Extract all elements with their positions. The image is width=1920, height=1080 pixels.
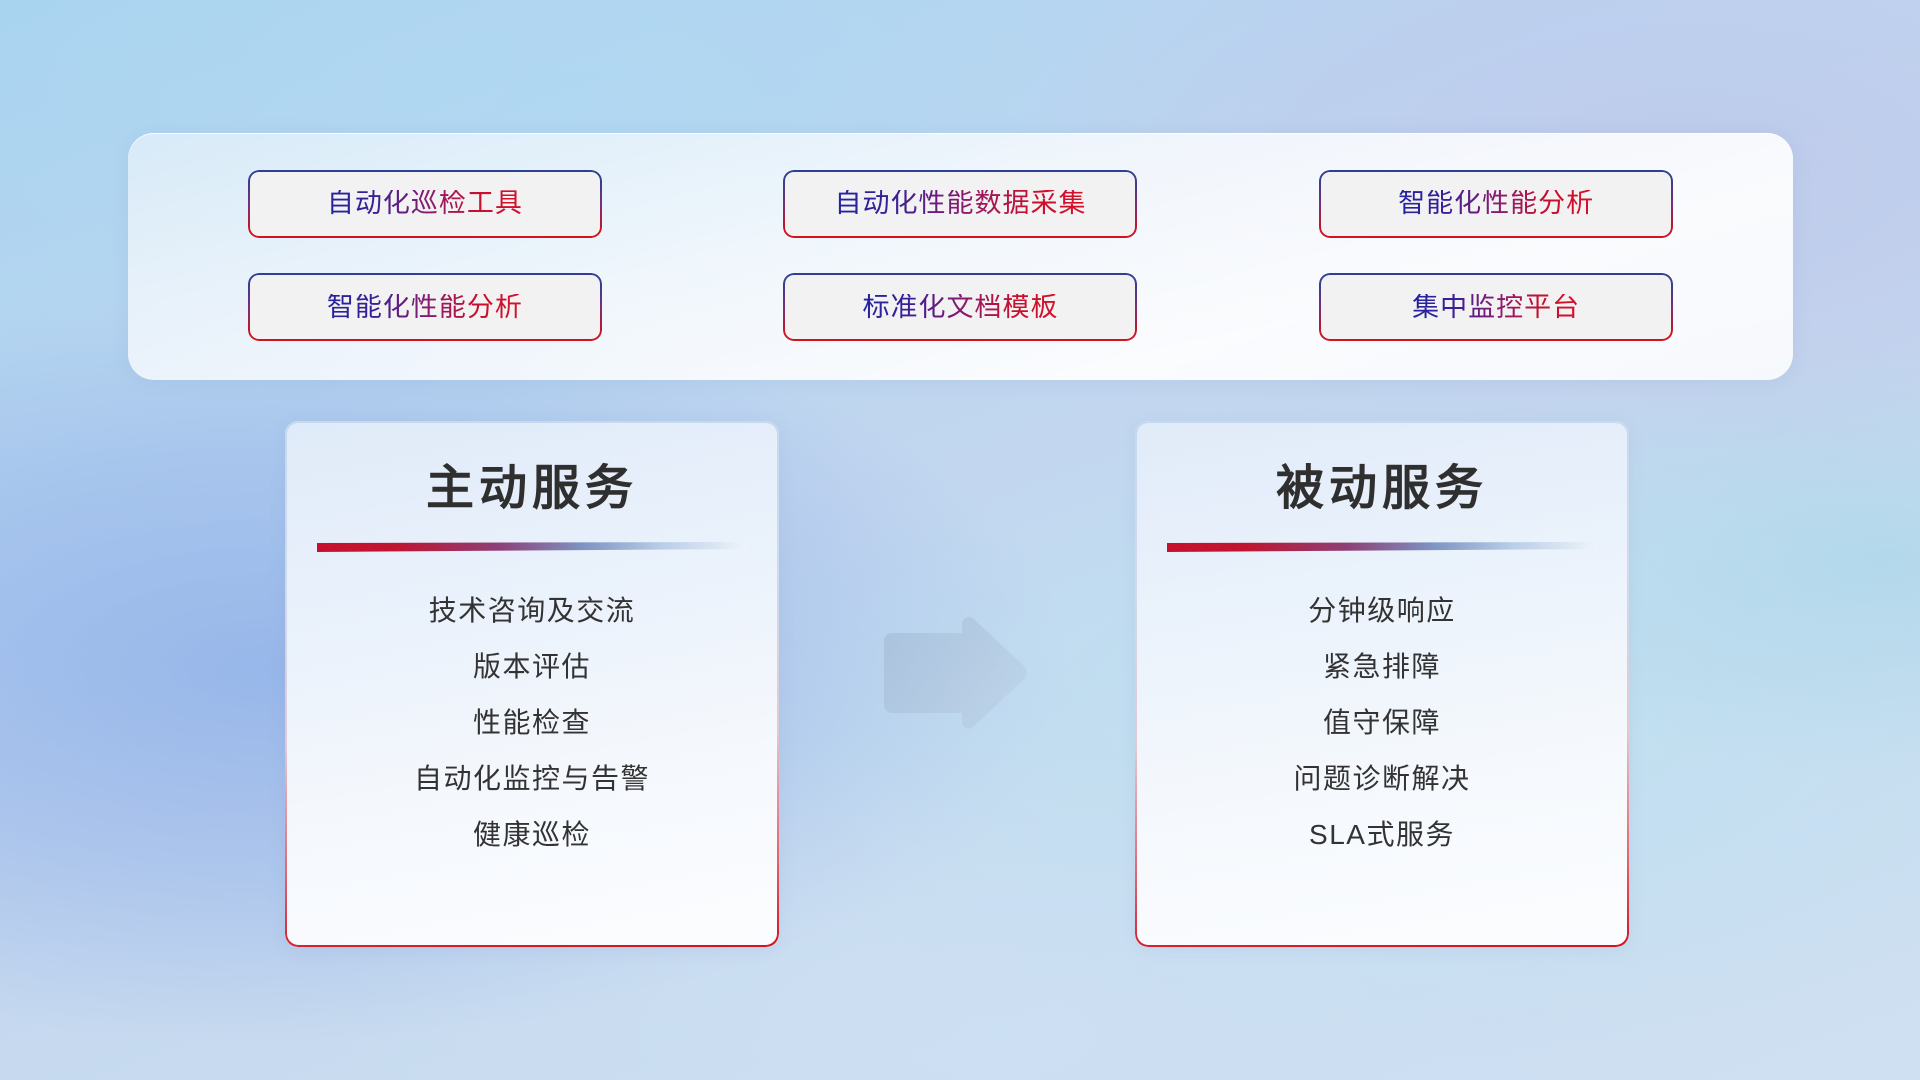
- service-list-item[interactable]: SLA式服务: [1135, 807, 1629, 863]
- service-list-item[interactable]: 分钟级响应: [1135, 583, 1629, 639]
- capability-toolbar: 自动化巡检工具 自动化性能数据采集 智能化性能分析 智能化性能分析 标准化文档模…: [128, 133, 1793, 380]
- tool-button-intelligent-perf-analysis-1[interactable]: 智能化性能分析: [1319, 170, 1673, 238]
- service-card-active-service[interactable]: 主动服务 技术咨询及交流 版本评估 性能检查: [285, 421, 779, 947]
- service-list-item[interactable]: 问题诊断解决: [1135, 751, 1629, 807]
- card-title: 主动服务: [285, 421, 779, 518]
- card-divider: [317, 542, 747, 553]
- service-list-item[interactable]: 值守保障: [1135, 695, 1629, 751]
- tool-button-label: 自动化性能数据采集: [834, 190, 1086, 217]
- service-list-item[interactable]: 性能检查: [285, 695, 779, 751]
- card-title: 被动服务: [1135, 421, 1629, 518]
- service-list-item[interactable]: 技术咨询及交流: [285, 583, 779, 639]
- tool-button-label: 智能化性能分析: [327, 294, 523, 321]
- card-divider: [1167, 542, 1597, 553]
- tool-button-label: 集中监控平台: [1412, 294, 1580, 321]
- tool-button-standard-doc-template[interactable]: 标准化文档模板: [783, 273, 1137, 341]
- tool-button-label: 自动化巡检工具: [327, 190, 523, 217]
- service-list-item[interactable]: 版本评估: [285, 639, 779, 695]
- tool-button-intelligent-perf-analysis-2[interactable]: 智能化性能分析: [248, 273, 602, 341]
- tool-button-label: 标准化文档模板: [862, 294, 1058, 321]
- service-list-item[interactable]: 自动化监控与告警: [285, 751, 779, 807]
- service-list-item[interactable]: 紧急排障: [1135, 639, 1629, 695]
- arrow-right-icon: [876, 613, 1033, 733]
- service-item-list: 技术咨询及交流 版本评估 性能检查 自动化监控与告警 健康巡检: [285, 583, 779, 863]
- tool-button-auto-inspection-tool[interactable]: 自动化巡检工具: [248, 170, 602, 238]
- slide-stage: 自动化巡检工具 自动化性能数据采集 智能化性能分析 智能化性能分析 标准化文档模…: [0, 0, 1920, 1080]
- service-item-list: 分钟级响应 紧急排障 值守保障 问题诊断解决 SLA式服务: [1135, 583, 1629, 863]
- tool-button-label: 智能化性能分析: [1398, 190, 1594, 217]
- tool-button-auto-perf-data-collection[interactable]: 自动化性能数据采集: [783, 170, 1137, 238]
- service-card-passive-service[interactable]: 被动服务 分钟级响应 紧急排障 值守保障: [1135, 421, 1629, 947]
- service-list-item[interactable]: 健康巡检: [285, 807, 779, 863]
- tool-button-central-monitoring-platform[interactable]: 集中监控平台: [1319, 273, 1673, 341]
